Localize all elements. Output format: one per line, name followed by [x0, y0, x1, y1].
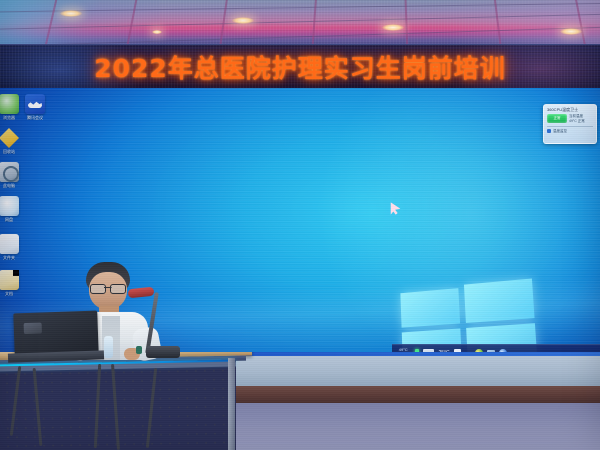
microphone-base [146, 346, 180, 358]
ceiling-light-icon [232, 17, 254, 24]
cpu-temperature-widget[interactable]: 360CPU温度卫士 正常 当前温度 49°C 正常 温度监控 [543, 104, 597, 144]
glasses-lens [90, 284, 106, 294]
glasses-lens [110, 284, 126, 294]
wall-panel [236, 352, 600, 386]
widget-bullet-icon [547, 129, 551, 133]
ceiling-light-icon [152, 30, 162, 34]
ceiling-light-icon [60, 10, 82, 17]
water-bottle [104, 336, 113, 358]
podium-post [228, 358, 235, 450]
widget-footer: 温度监控 [547, 126, 593, 134]
ceiling-blue-tint [0, 0, 160, 46]
widget-detail: 当前温度 49°C 正常 [569, 114, 585, 123]
wood-rail [236, 386, 600, 403]
widget-footer-label: 温度监控 [553, 129, 567, 134]
widget-status-row: 正常 当前温度 49°C 正常 [547, 114, 593, 123]
led-banner-text: 2022年总医院护理实习生岗前培训 [94, 49, 506, 85]
stage-floor [236, 403, 600, 450]
glasses-icon [90, 284, 126, 292]
widget-detail-sub: 49°C 正常 [569, 119, 585, 124]
ceiling-light-icon [382, 24, 404, 31]
laptop-badge [24, 322, 42, 334]
widget-status-pill: 正常 [547, 114, 567, 123]
lecture-hall-photo: 2022年总医院护理实习生岗前培训 浏览器 腾讯会议 回收站 此电 [0, 0, 600, 450]
ceiling-panels [0, 0, 600, 46]
stage-area [0, 352, 600, 450]
widget-detail-line: 当前温度 [569, 114, 585, 119]
wristwatch-icon [136, 346, 142, 354]
widget-title: 360CPU温度卫士 [547, 107, 593, 112]
ceiling-light-icon [560, 28, 582, 35]
led-banner: 2022年总医院护理实习生岗前培训 [0, 44, 600, 91]
wall-blue-trim [236, 352, 600, 356]
ceiling-purple-tint [410, 0, 600, 46]
